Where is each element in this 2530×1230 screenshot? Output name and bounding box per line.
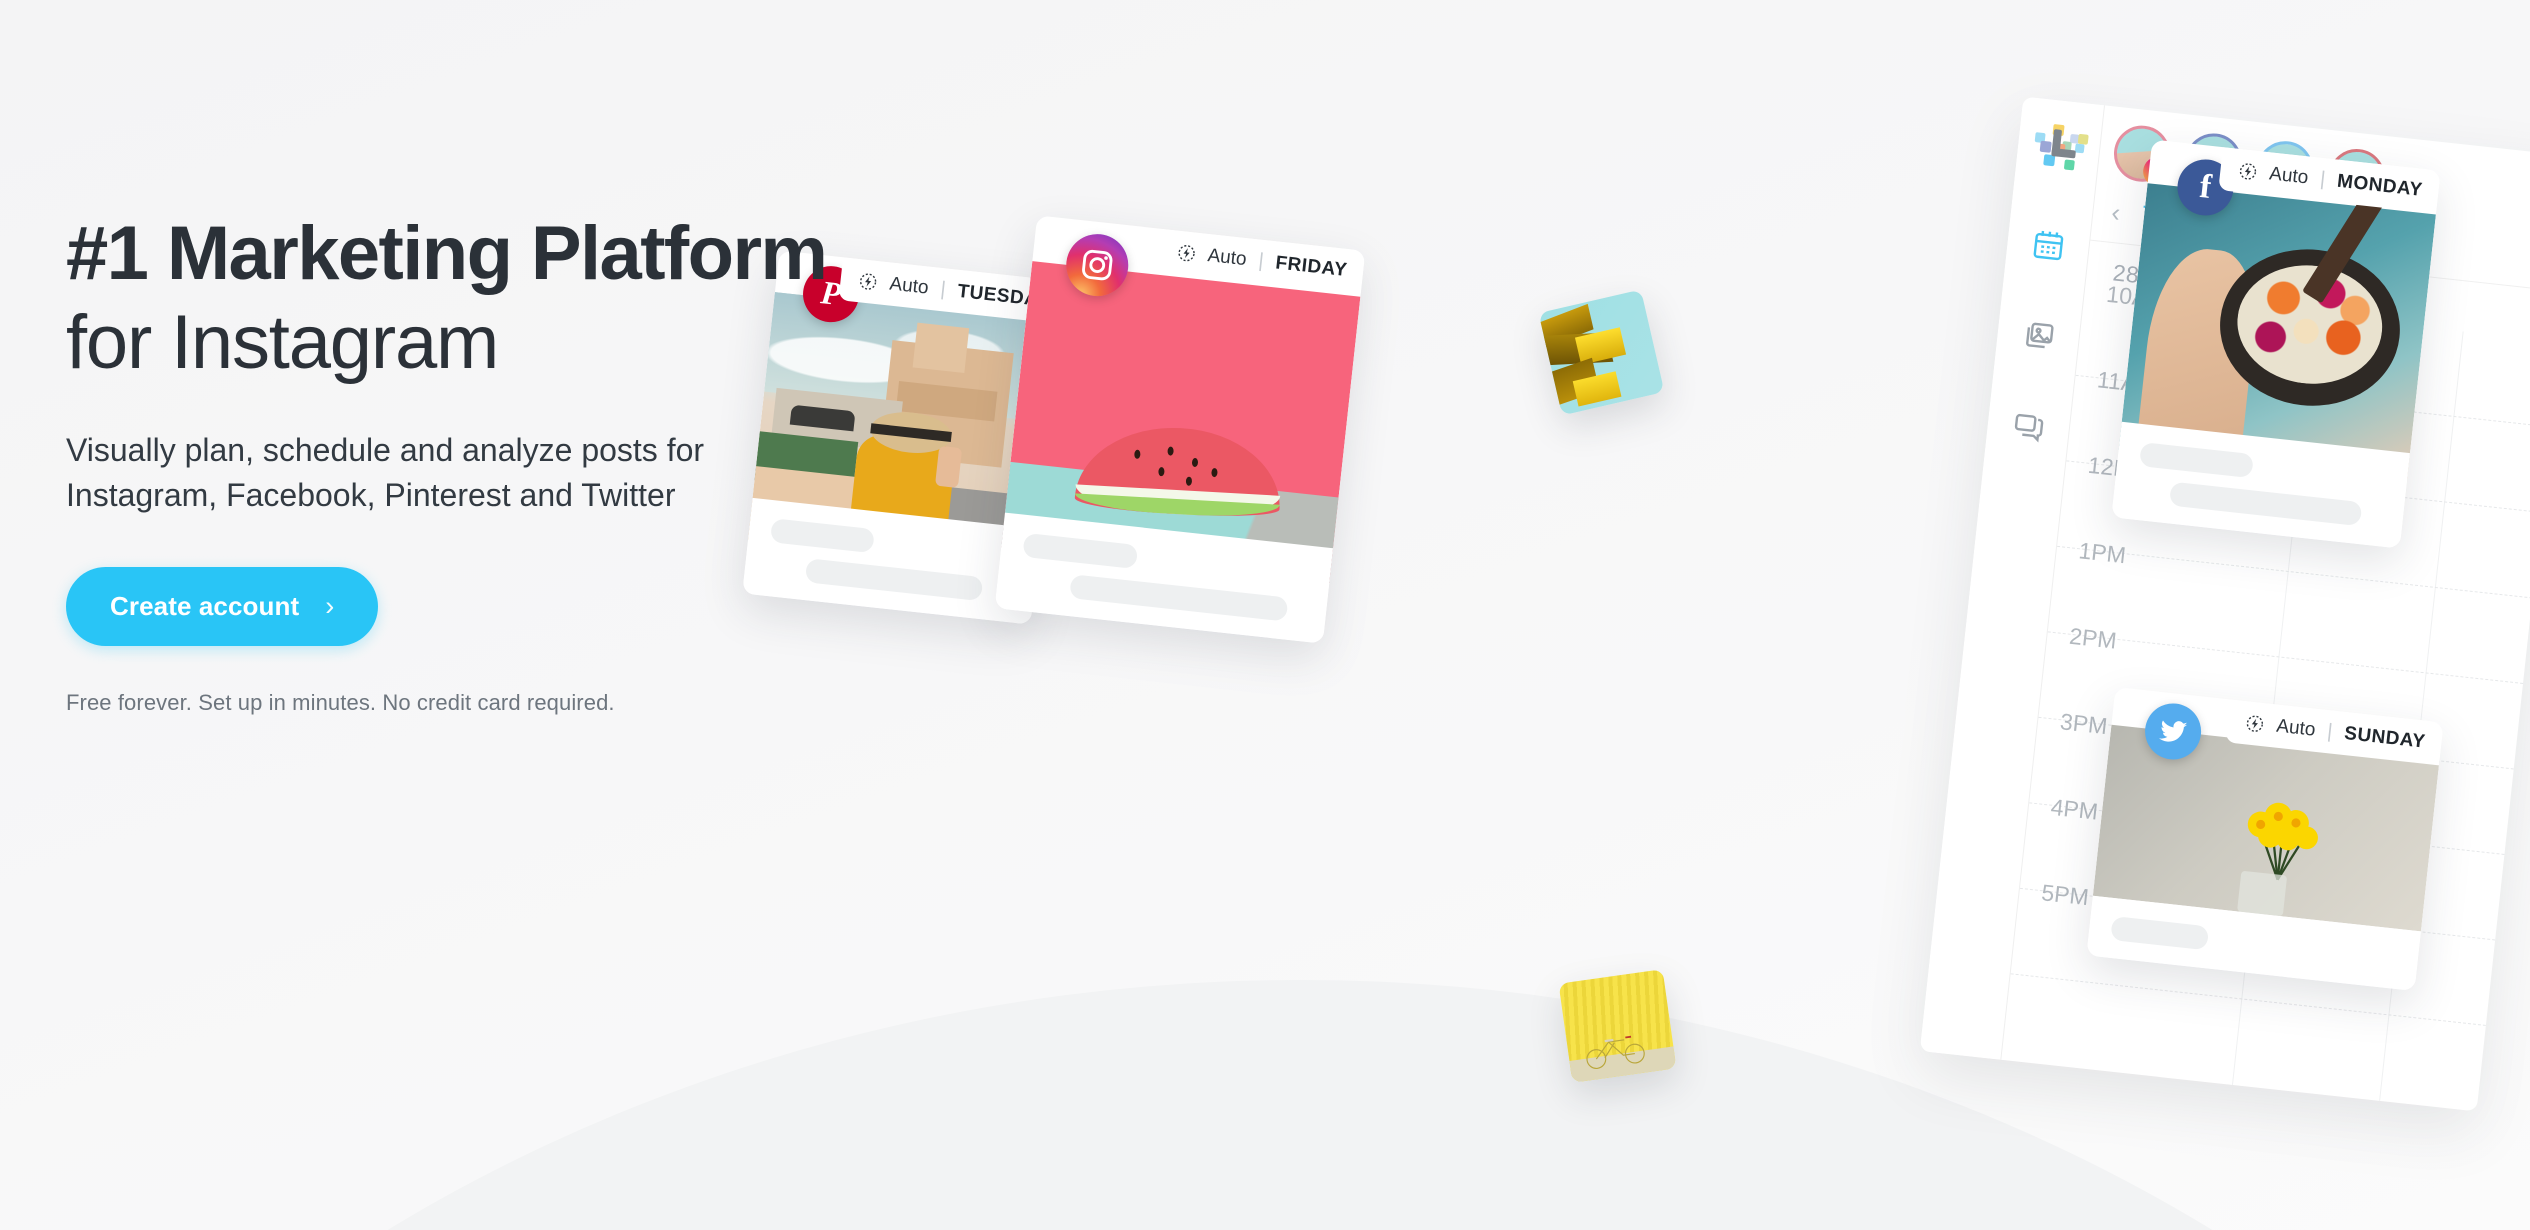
caption-skeleton-line [2139, 442, 2254, 478]
auto-publish-icon [2237, 161, 2258, 182]
post-card-twitter[interactable]: Auto | SUNDAY [2086, 687, 2443, 991]
auto-label: Auto [2275, 715, 2316, 741]
chip-separator: | [2326, 720, 2334, 743]
decoration-ribbon-thumbnail [1539, 290, 1665, 416]
create-account-button[interactable]: Create account › [66, 567, 378, 646]
subheadline-line-1: Visually plan, schedule and analyze post… [66, 432, 704, 468]
later-logo-icon [2030, 118, 2087, 175]
hero-copy-block: #1 Marketing Platform for Instagram Visu… [66, 210, 1186, 716]
hero-subheadline: Visually plan, schedule and analyze post… [66, 428, 966, 519]
auto-label: Auto [1206, 245, 1247, 271]
day-label: FRIDAY [1274, 252, 1348, 282]
auto-publish-icon [2245, 713, 2266, 734]
auto-label: Auto [2268, 163, 2309, 189]
time-label: 5PM [2040, 879, 2090, 911]
chip-separator: | [2319, 168, 2327, 191]
cta-footnote: Free forever. Set up in minutes. No cred… [66, 690, 1186, 716]
chip-separator: | [1257, 250, 1265, 273]
time-label: 2PM [2068, 623, 2118, 655]
sidebar-item-conversations[interactable] [2009, 407, 2047, 449]
caption-skeleton-line [2110, 916, 2209, 950]
create-account-label: Create account [110, 591, 299, 622]
post-card-facebook[interactable]: f Auto | MONDAY [2111, 139, 2440, 548]
caption-skeleton-line [2169, 482, 2362, 527]
sidebar-item-media-library[interactable] [2019, 317, 2057, 359]
media-library-icon [2020, 317, 2057, 354]
headline-line-1: #1 Marketing Platform [66, 211, 826, 296]
subheadline-line-2: Instagram, Facebook, Pinterest and Twitt… [66, 477, 675, 513]
chevron-right-icon: › [325, 593, 334, 620]
hero-artwork: f ‹ Today › 28 MON 10AM 11AM [1200, 0, 2530, 1230]
time-label: 4PM [2049, 794, 2099, 826]
calendar-icon [2029, 226, 2066, 263]
decoration-bicycle-thumbnail [1559, 969, 1677, 1083]
page-title: #1 Marketing Platform for Instagram [66, 210, 1186, 388]
cta-row: Create account › [66, 567, 1186, 646]
prev-week-button[interactable]: ‹ [2110, 197, 2122, 229]
headline-line-2: for Instagram [66, 299, 1186, 388]
day-label: MONDAY [2336, 170, 2424, 201]
time-label: 3PM [2059, 708, 2109, 740]
day-label: SUNDAY [2343, 723, 2426, 754]
sidebar-item-calendar[interactable] [2029, 226, 2067, 268]
conversations-icon [2010, 407, 2047, 444]
time-label: 1PM [2077, 537, 2127, 569]
